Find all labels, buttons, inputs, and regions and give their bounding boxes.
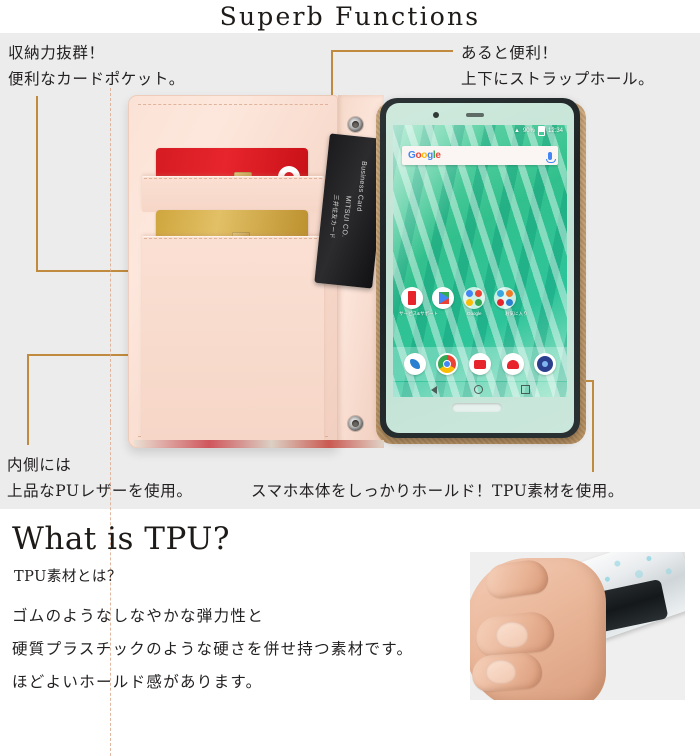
google-logo: Google [408,150,441,161]
app-icon-chrome[interactable] [436,353,458,375]
app-label-service: サービス&サポート [399,311,438,317]
battery-percent-label: 90% [523,128,535,134]
callout-strap-hole-line1: あると便利！ [461,40,654,66]
middle-finger-nail [486,660,516,684]
card-pocket-lower [142,236,324,441]
stitch-pocket-upper [144,178,322,179]
app-label-favorites: お気に入り [505,311,528,317]
app-icon-favorites-folder[interactable] [494,287,516,309]
page-title: Superb Functions [0,2,700,31]
product-photo: Business Card MITSUI CO. 三井住友カード ▲ 90% 1… [110,88,610,463]
phone-screen[interactable]: ▲ 90% 12:34 Google [393,125,567,397]
app-icon-play-store[interactable] [432,287,454,309]
leader-line-strap-horizontal [331,50,453,52]
phone-nav-bar [393,382,567,397]
nav-back-icon[interactable] [431,386,437,394]
app-icon-service[interactable] [401,287,423,309]
tpu-body-line-2: 硬質プラスチックのような硬さを併せ持つ素材です。 [12,637,413,659]
phone-dock [393,347,567,381]
earpiece-icon [466,113,484,117]
app-label-google: Google [467,311,482,316]
front-camera-icon [433,112,439,118]
tpu-heading: What is TPU? [12,521,230,557]
business-card-text-1: Business Card [355,161,367,212]
tpu-body-line-3: ほどよいホールド感があります。 [12,670,262,692]
app-icon-mail[interactable] [502,353,524,375]
phone-status-bar: ▲ 90% 12:34 [393,125,567,137]
leader-line-leather-vertical [27,354,29,445]
nav-recents-icon[interactable] [521,385,530,394]
card-pocket-upper [142,176,324,212]
app-icon-messages[interactable] [469,353,491,375]
tpu-body-line-1: ゴムのようなしなやかな弾力性と [12,604,264,626]
stitch-pocket-lower [144,238,322,239]
phone-home-button[interactable] [452,403,502,412]
thumb-nail [496,622,528,648]
app-icon-camera[interactable] [534,353,556,375]
infographic-page: Superb Functions 収納力抜群！ 便利なカードポケット。 あると便… [0,0,700,700]
leader-line-card-pocket-vertical [36,96,38,272]
callout-card-pocket: 収納力抜群！ 便利なカードポケット。 [8,40,185,92]
business-card-text-2: MITSUI CO. [340,195,351,238]
case-red-lining-edge [134,440,384,448]
battery-icon [538,126,545,136]
app-icon-google-folder[interactable] [463,287,485,309]
tpu-subheading: TPU素材とは？ [14,565,122,586]
strap-hole-bottom [348,416,363,431]
signal-icon: ▲ [514,128,520,134]
google-search-bar[interactable]: Google [402,146,558,165]
app-icon-phone[interactable] [404,353,426,375]
callout-card-pocket-line1: 収納力抜群！ [8,40,185,66]
nav-home-icon[interactable] [474,385,483,394]
hand-holding-phone-photo [470,552,685,700]
clock-label: 12:34 [548,128,563,134]
app-grid-row [401,287,516,309]
callout-strap-hole: あると便利！ 上下にストラップホール。 [461,40,654,92]
strap-hole-top [348,117,363,132]
microphone-icon[interactable] [548,152,552,160]
